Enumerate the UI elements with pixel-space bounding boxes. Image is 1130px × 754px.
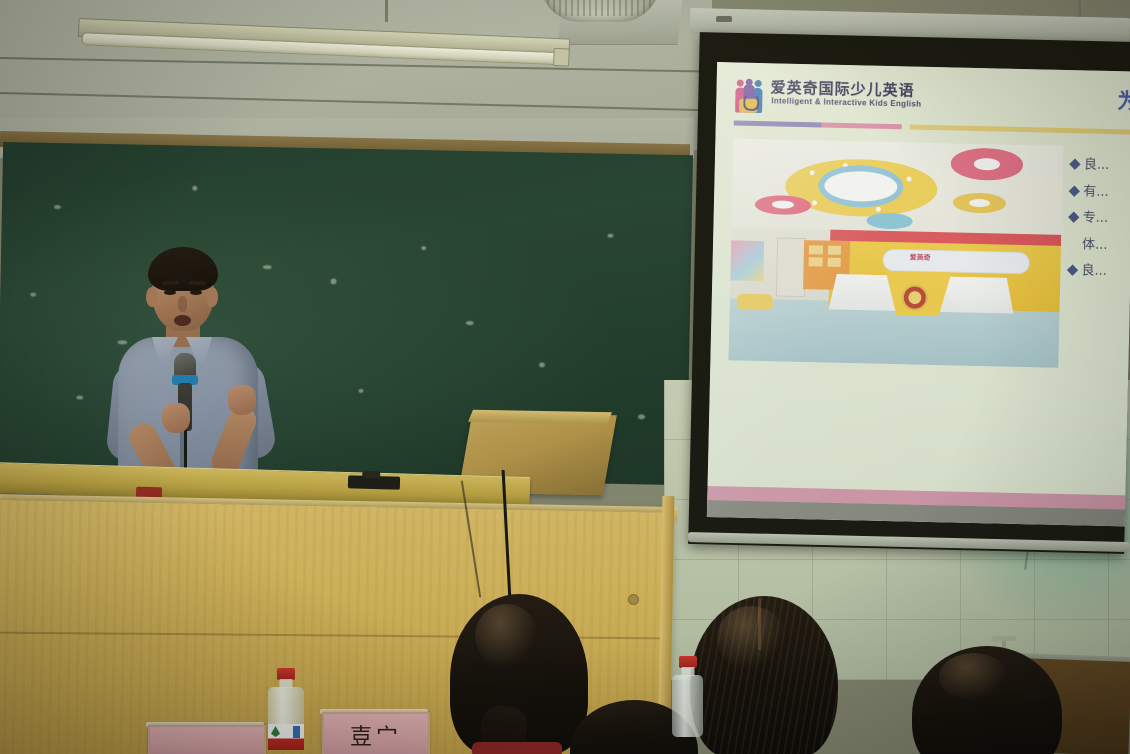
chalkboard-eraser	[348, 475, 400, 489]
list-item: 有...	[1070, 183, 1130, 203]
lamp-support-rod	[385, 0, 388, 22]
lecture-hall-photo: 爱英奇国际少儿英语 Intelligent & Interactive Kids…	[0, 0, 1130, 754]
audience-member	[912, 646, 1062, 754]
list-item: 良...	[1068, 262, 1130, 282]
projection-screen[interactable]: 爱英奇国际少儿英语 Intelligent & Interactive Kids…	[707, 62, 1130, 526]
divider-segment-pink	[822, 122, 902, 129]
name-card-text: 壴宀	[350, 719, 402, 751]
render-wall-poster	[730, 241, 764, 282]
presenter-right-hand	[228, 385, 256, 415]
podium-screw	[628, 594, 639, 605]
water-bottle	[268, 668, 304, 754]
bullet-diamond-icon	[1067, 265, 1078, 276]
slide-bullet-list: 良... 有... 专... 体... 良...	[1068, 156, 1130, 291]
brand-logo-icon	[734, 78, 765, 115]
water-bottle	[672, 656, 703, 734]
bullet-diamond-icon	[1069, 159, 1080, 170]
list-item: 体...	[1069, 236, 1130, 256]
audience-member	[690, 596, 838, 754]
name-card	[148, 725, 266, 754]
bullet-text: 良...	[1084, 156, 1110, 174]
presenter-eye	[190, 290, 202, 295]
bottle-body	[672, 675, 703, 737]
bullet-text: 体...	[1082, 236, 1108, 254]
presenter-left-hand	[162, 403, 190, 433]
presenter	[100, 245, 285, 495]
render-sign-text: 爱英奇	[910, 252, 931, 262]
render-signboard: 爱英奇	[882, 248, 1030, 273]
render-crest-emblem	[901, 284, 928, 311]
bullet-diamond-icon	[1068, 212, 1079, 223]
bullet-text: 专...	[1083, 209, 1109, 227]
slide: 爱英奇国际少儿英语 Intelligent & Interactive Kids…	[707, 62, 1130, 526]
audience-member	[450, 594, 588, 754]
lectern-top	[468, 410, 612, 424]
list-item: 良...	[1071, 156, 1130, 176]
bullet-diamond-icon	[1069, 185, 1080, 196]
render-ceiling-oval-blue	[867, 213, 914, 230]
render-sofa	[736, 294, 773, 310]
list-item: 专...	[1070, 209, 1130, 229]
name-card: 壴宀	[322, 712, 430, 754]
lamp-end-cap	[553, 48, 570, 67]
bullet-text: 有...	[1083, 183, 1109, 201]
presenter-eye	[164, 290, 176, 295]
render-door	[776, 237, 806, 297]
bottle-label-blue-mark	[293, 726, 300, 738]
ceiling-seam	[0, 92, 712, 111]
presenter-nose	[178, 296, 187, 312]
presenter-mouth	[174, 315, 191, 326]
divider-segment-purple	[734, 120, 822, 127]
render-ceiling-ring-pink	[950, 148, 1023, 181]
screen-case-clip	[716, 16, 732, 22]
bullet-text: 良...	[1081, 263, 1107, 281]
slide-title: 为	[1117, 85, 1130, 115]
presenter-ear	[206, 287, 218, 307]
presenter-ear	[146, 287, 158, 307]
slide-photo-interior-render: 爱英奇	[728, 138, 1063, 367]
presenter-hair	[148, 247, 218, 291]
